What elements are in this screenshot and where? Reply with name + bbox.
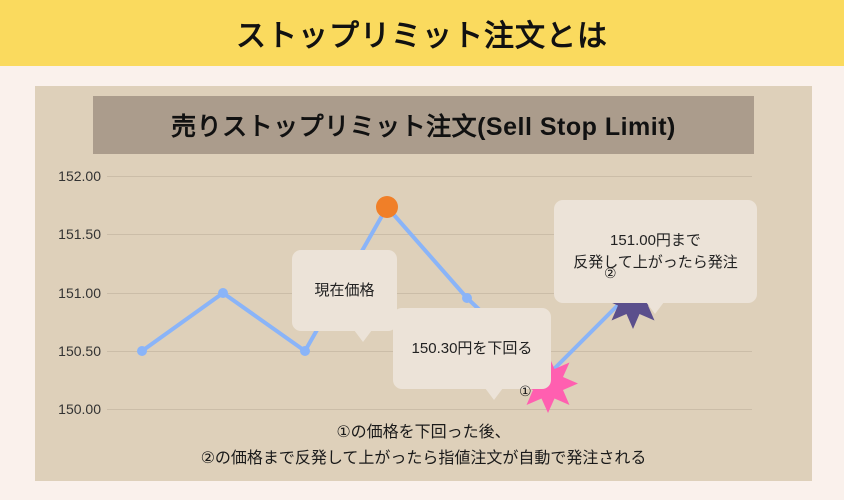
callout-limit-order-text: 151.00円まで 反発して上がったら発注 <box>573 232 738 271</box>
data-point-current-price <box>376 196 398 218</box>
marker-label-one: ① <box>519 383 532 400</box>
chart-panel: 売りストップリミット注文(Sell Stop Limit) 152.00 151… <box>35 86 812 481</box>
callout-limit-order: 151.00円まで 反発して上がったら発注 <box>554 200 757 303</box>
caption-line-2: ②の価格まで反発して上がったら指値注文が自動で発注される <box>35 446 812 472</box>
data-point-1 <box>137 346 147 356</box>
marker-label-two: ② <box>604 265 617 282</box>
header-band: ストップリミット注文とは <box>0 0 844 66</box>
callout-stop-trigger-text: 150.30円を下回る <box>412 340 533 357</box>
data-point-5 <box>462 293 472 303</box>
callout-limit-order-tail <box>646 302 664 314</box>
chart-plot-area: 152.00 151.50 151.00 150.50 150.00 現在価格 <box>35 86 812 481</box>
callout-stop-trigger: 150.30円を下回る <box>393 308 551 389</box>
callout-current-price: 現在価格 <box>292 250 397 331</box>
data-point-2 <box>218 288 228 298</box>
callout-current-price-tail <box>354 330 372 342</box>
data-point-3 <box>300 346 310 356</box>
callout-current-price-text: 現在価格 <box>314 282 374 299</box>
screenshot-root: ストップリミット注文とは 売りストップリミット注文(Sell Stop Limi… <box>0 0 844 500</box>
callout-stop-trigger-tail <box>485 388 503 400</box>
page-title: ストップリミット注文とは <box>0 0 844 66</box>
caption-line-1: ①の価格を下回った後、 <box>35 420 812 446</box>
